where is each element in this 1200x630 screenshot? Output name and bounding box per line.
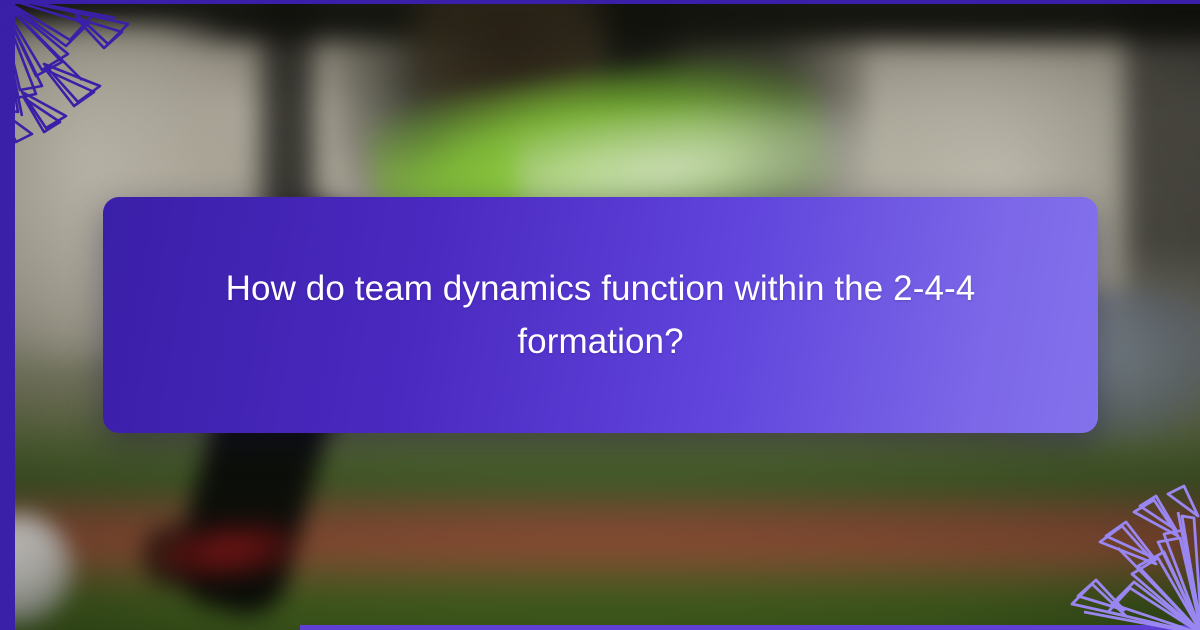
frame-edge-left (0, 0, 15, 630)
frame-edge-bottom (300, 625, 1200, 630)
question-card: How do team dynamics function within the… (103, 197, 1098, 433)
frame-edge-top (0, 0, 1200, 4)
poster-canvas: How do team dynamics function within the… (0, 0, 1200, 630)
question-text: How do team dynamics function within the… (221, 262, 981, 368)
